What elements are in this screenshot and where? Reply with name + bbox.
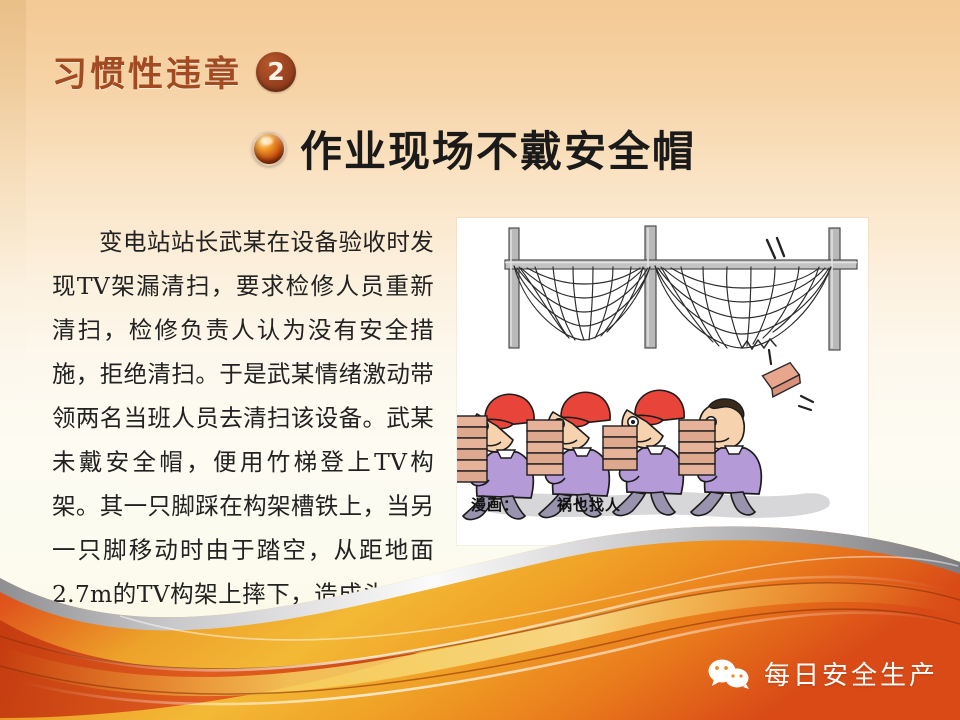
page-title: 作业现场不戴安全帽: [300, 118, 696, 179]
left-edge-gradient-band: [0, 0, 26, 720]
slide-canvas: 习惯性违章 2 作业现场不戴安全帽 变电站站长武某在设备验收时发现TV架漏清扫，…: [0, 0, 960, 720]
cartoon-caption-author: 祸也找人: [557, 494, 621, 515]
cartoon-caption: 漫画： 祸也找人: [471, 494, 621, 515]
slide-kicker: 习惯性违章 2: [52, 46, 296, 97]
cartoon-caption-label: 漫画：: [471, 494, 519, 515]
brand-watermark: 每日安全生产: [706, 655, 938, 692]
kicker-label: 习惯性违章: [52, 46, 242, 97]
section-number-badge: 2: [256, 52, 296, 92]
cartoon-image-panel: 漫画： 祸也找人: [457, 218, 868, 545]
wechat-icon: [706, 658, 752, 690]
case-description-paragraph: 变电站站长武某在设备验收时发现TV架漏清扫，要求检修人员重新清扫，检修负责人认为…: [52, 220, 434, 660]
slide-subtitle-row: 作业现场不戴安全帽: [252, 118, 696, 179]
brand-name: 每日安全生产: [764, 655, 938, 692]
bullet-sphere-icon: [252, 132, 286, 166]
body-column: 变电站站长武某在设备验收时发现TV架漏清扫，要求检修人员重新清扫，检修负责人认为…: [52, 196, 434, 683]
